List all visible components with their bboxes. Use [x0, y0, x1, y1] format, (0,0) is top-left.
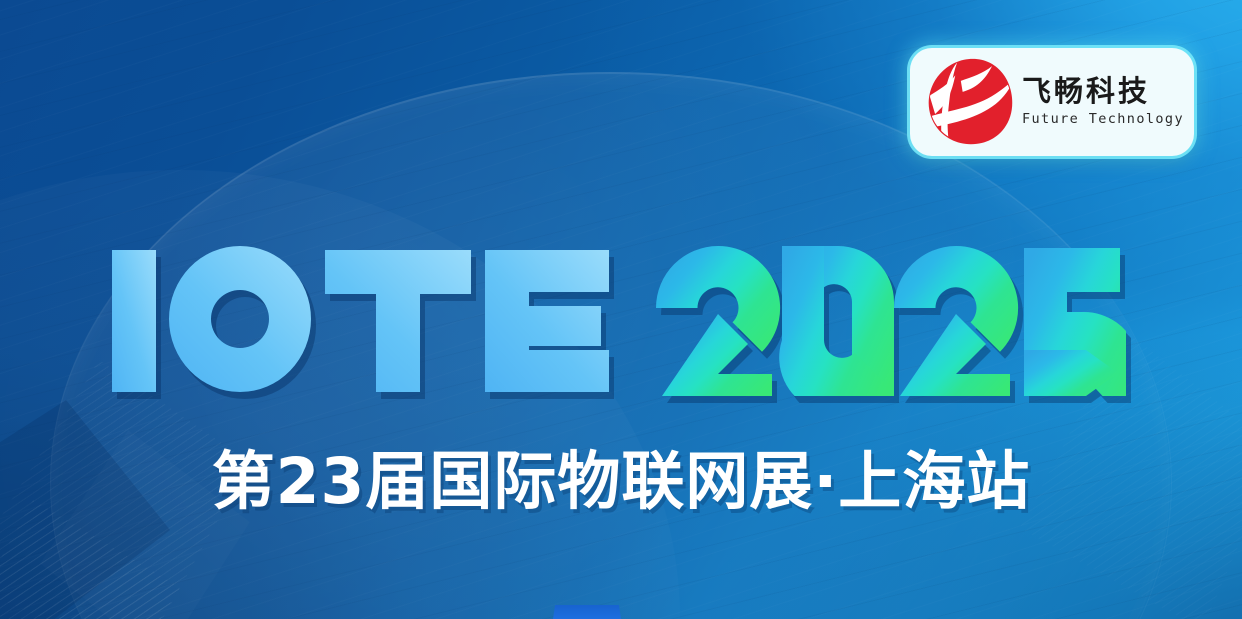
- poster-canvas: 第23届国际物联网展·上海站 飞畅科技 Fut: [0, 0, 1242, 619]
- event-subtitle: 第23届国际物联网展·上海站: [0, 448, 1242, 516]
- flying-fc-emblem-icon: [924, 57, 1016, 147]
- iote-lettermark: [112, 246, 612, 396]
- sponsor-logo-card[interactable]: 飞畅科技 Future Technology: [910, 48, 1194, 156]
- sponsor-name-en: Future Technology: [1022, 113, 1184, 127]
- bottom-accent-tab: [553, 605, 621, 619]
- iote-2025-wordmark: [112, 246, 1126, 396]
- sponsor-logo-text: 飞畅科技 Future Technology: [1022, 77, 1184, 127]
- year-2025-lettermark: [656, 246, 1126, 396]
- sponsor-name-cn: 飞畅科技: [1022, 77, 1184, 106]
